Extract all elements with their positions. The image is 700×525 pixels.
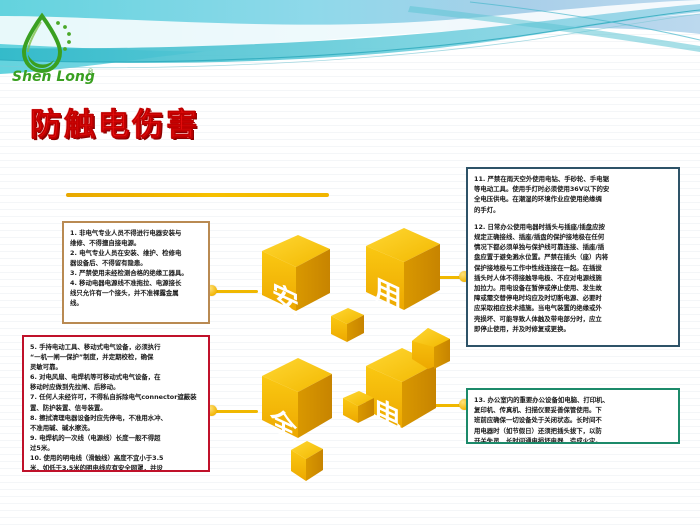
box-right-top-line: 情况下都必须单独与保护线可靠连接、插座/插	[474, 242, 672, 252]
box-left-top-line: 2. 电气专业人员在安装、维护、检修电	[70, 248, 203, 258]
water-drop-icon	[24, 16, 60, 71]
box-left-top-line: 4. 移动电器电源线不准拖拉、电源接长	[70, 278, 203, 288]
info-box-right-bottom: 13. 办公室内的重要办公设备如电脑、打印机、 复印机、传真机、扫描仪要妥善保管…	[466, 388, 680, 444]
box-right-top-line: 盘应置于避免溅水位置。严禁在插头（座）内将	[474, 252, 672, 262]
logo-brand-text: Shen Long	[12, 69, 95, 85]
title-accent-bar	[66, 193, 329, 197]
box-left-bottom-line: 米，如低于3.5米的明电线应有安全网罩，并设	[30, 463, 203, 472]
box-left-bottom-line: 7. 任何人未经许可，不得私自拆除电气connector遮蔽装	[30, 392, 203, 402]
box-left-bottom-line: 9. 电焊机的一次线（电源线）长度一般不得超	[30, 433, 203, 443]
box-left-bottom-line: 灵敏可靠。	[30, 362, 203, 372]
box-left-bottom-line: “一机一闸一保护”制度，并定期校检，确保	[30, 352, 203, 362]
box-right-top-line: 加拉力。用电设备在暂停或停止使用、发生故	[474, 283, 672, 293]
small-cube-right-wedge	[408, 325, 454, 371]
small-cube-bottom-left	[288, 438, 328, 484]
cube-yong: 用	[362, 226, 444, 314]
box-left-top-line: 维修、不得擅自接电源。	[70, 238, 203, 248]
small-cube-center	[328, 305, 368, 345]
box-left-bottom-line: 移动时应做到先拉闸、后移动。	[30, 382, 203, 392]
connector-line-left-bottom	[210, 410, 258, 413]
box-left-bottom-line: 6. 对电风扇、电焊机等可移动式电气设备，在	[30, 372, 203, 382]
box-right-top-line: 应采取相应技术措施。当电气装置的绝缘或外	[474, 303, 672, 313]
box-right-bottom-line: 用电器时（如节假日）还须把插头拔下，以防	[474, 426, 672, 436]
box-right-top-line: 的手灯。	[474, 205, 672, 215]
box-left-top-line: 器设备后、不得留有隐患。	[70, 258, 203, 268]
info-box-left-bottom: 5. 手持电动工具、移动式电气设备，必须执行 “一机一闸一保护”制度，并定期校检…	[22, 335, 210, 472]
box-left-top-line: 3. 严禁使用未经检测合格的绝缘工器具。	[70, 268, 203, 278]
box-left-bottom-line: 不准用碱、碱水擦洗。	[30, 423, 203, 433]
box-right-bottom-line: 复印机、传真机、扫描仪要妥善保管使用。下	[474, 405, 672, 415]
paragraph-spacer	[474, 215, 672, 222]
box-left-bottom-line: 10. 使用的明电线（滑触线）高度不宜小于3.5	[30, 453, 203, 463]
box-right-top-line: 等电动工具。使用手灯时必须使用36V以下的安	[474, 184, 672, 194]
box-left-bottom-line: 置、防护装置、信号装置。	[30, 403, 203, 413]
box-left-bottom-line: 5. 手持电动工具、移动式电气设备，必须执行	[30, 342, 203, 352]
small-cube-lower-center	[340, 388, 378, 426]
box-right-top-line: 12. 日常办公使用电器时插头与插座/插盘应按	[474, 222, 672, 232]
cube-an: 安	[256, 233, 334, 315]
box-right-top-line: 障或需交替停电时均应及时切断电源、必要时	[474, 293, 672, 303]
box-right-top-line: 全电压供电。在潮湿的环境作业应使用绝缘绸	[474, 194, 672, 204]
slide-canvas: Shen Long ® 防触电伤害	[0, 0, 700, 525]
box-right-top-line: 保护接地极与工作中性线连接在一起。在插拔	[474, 263, 672, 273]
box-left-bottom-line: 8. 擦拭清理电器设备时应先停电，不准用水冲、	[30, 413, 203, 423]
shen-long-logo: Shen Long ®	[8, 10, 104, 88]
box-right-top-line: 即停止使用，并及时修复或更换。	[474, 324, 672, 334]
box-right-top-line: 插头时人体不得接触导电极、不应对电源线施	[474, 273, 672, 283]
box-left-bottom-line: 过5米。	[30, 443, 203, 453]
page-title: 防触电伤害	[30, 99, 200, 144]
box-right-bottom-line: 13. 办公室内的重要办公设备如电脑、打印机、	[474, 395, 672, 405]
box-right-bottom-line: 班前应确保一切设备处于关闭状态。长时间不	[474, 415, 672, 425]
box-right-top-line: 规定正确接线、插座/插盘的保护接地极在任何	[474, 232, 672, 242]
box-right-top-line: 11. 严禁在雨天空外使用电钻、手砂轮、手电锯	[474, 174, 672, 184]
box-right-bottom-line: 开关失灵、长时间通电损坏电器，造成火灾。	[474, 436, 672, 444]
box-left-top-line: 线。	[70, 298, 203, 308]
info-box-right-top: 11. 严禁在雨天空外使用电钻、手砂轮、手电锯 等电动工具。使用手灯时必须使用3…	[466, 167, 680, 347]
info-box-left-top: 1. 非电气专业人员不得进行电器安装与 维修、不得擅自接电源。 2. 电气专业人…	[62, 221, 210, 324]
cube-quan: 全	[258, 356, 338, 442]
box-left-top-line: 线只允许有一个接头，并不准裸露金属	[70, 288, 203, 298]
connector-line-left-top	[210, 290, 258, 293]
box-left-top-line: 1. 非电气专业人员不得进行电器安装与	[70, 228, 203, 238]
box-right-top-line: 壳损坏、可能导致人体触及带电部分时，应立	[474, 314, 672, 324]
logo-registered-mark: ®	[87, 68, 94, 76]
